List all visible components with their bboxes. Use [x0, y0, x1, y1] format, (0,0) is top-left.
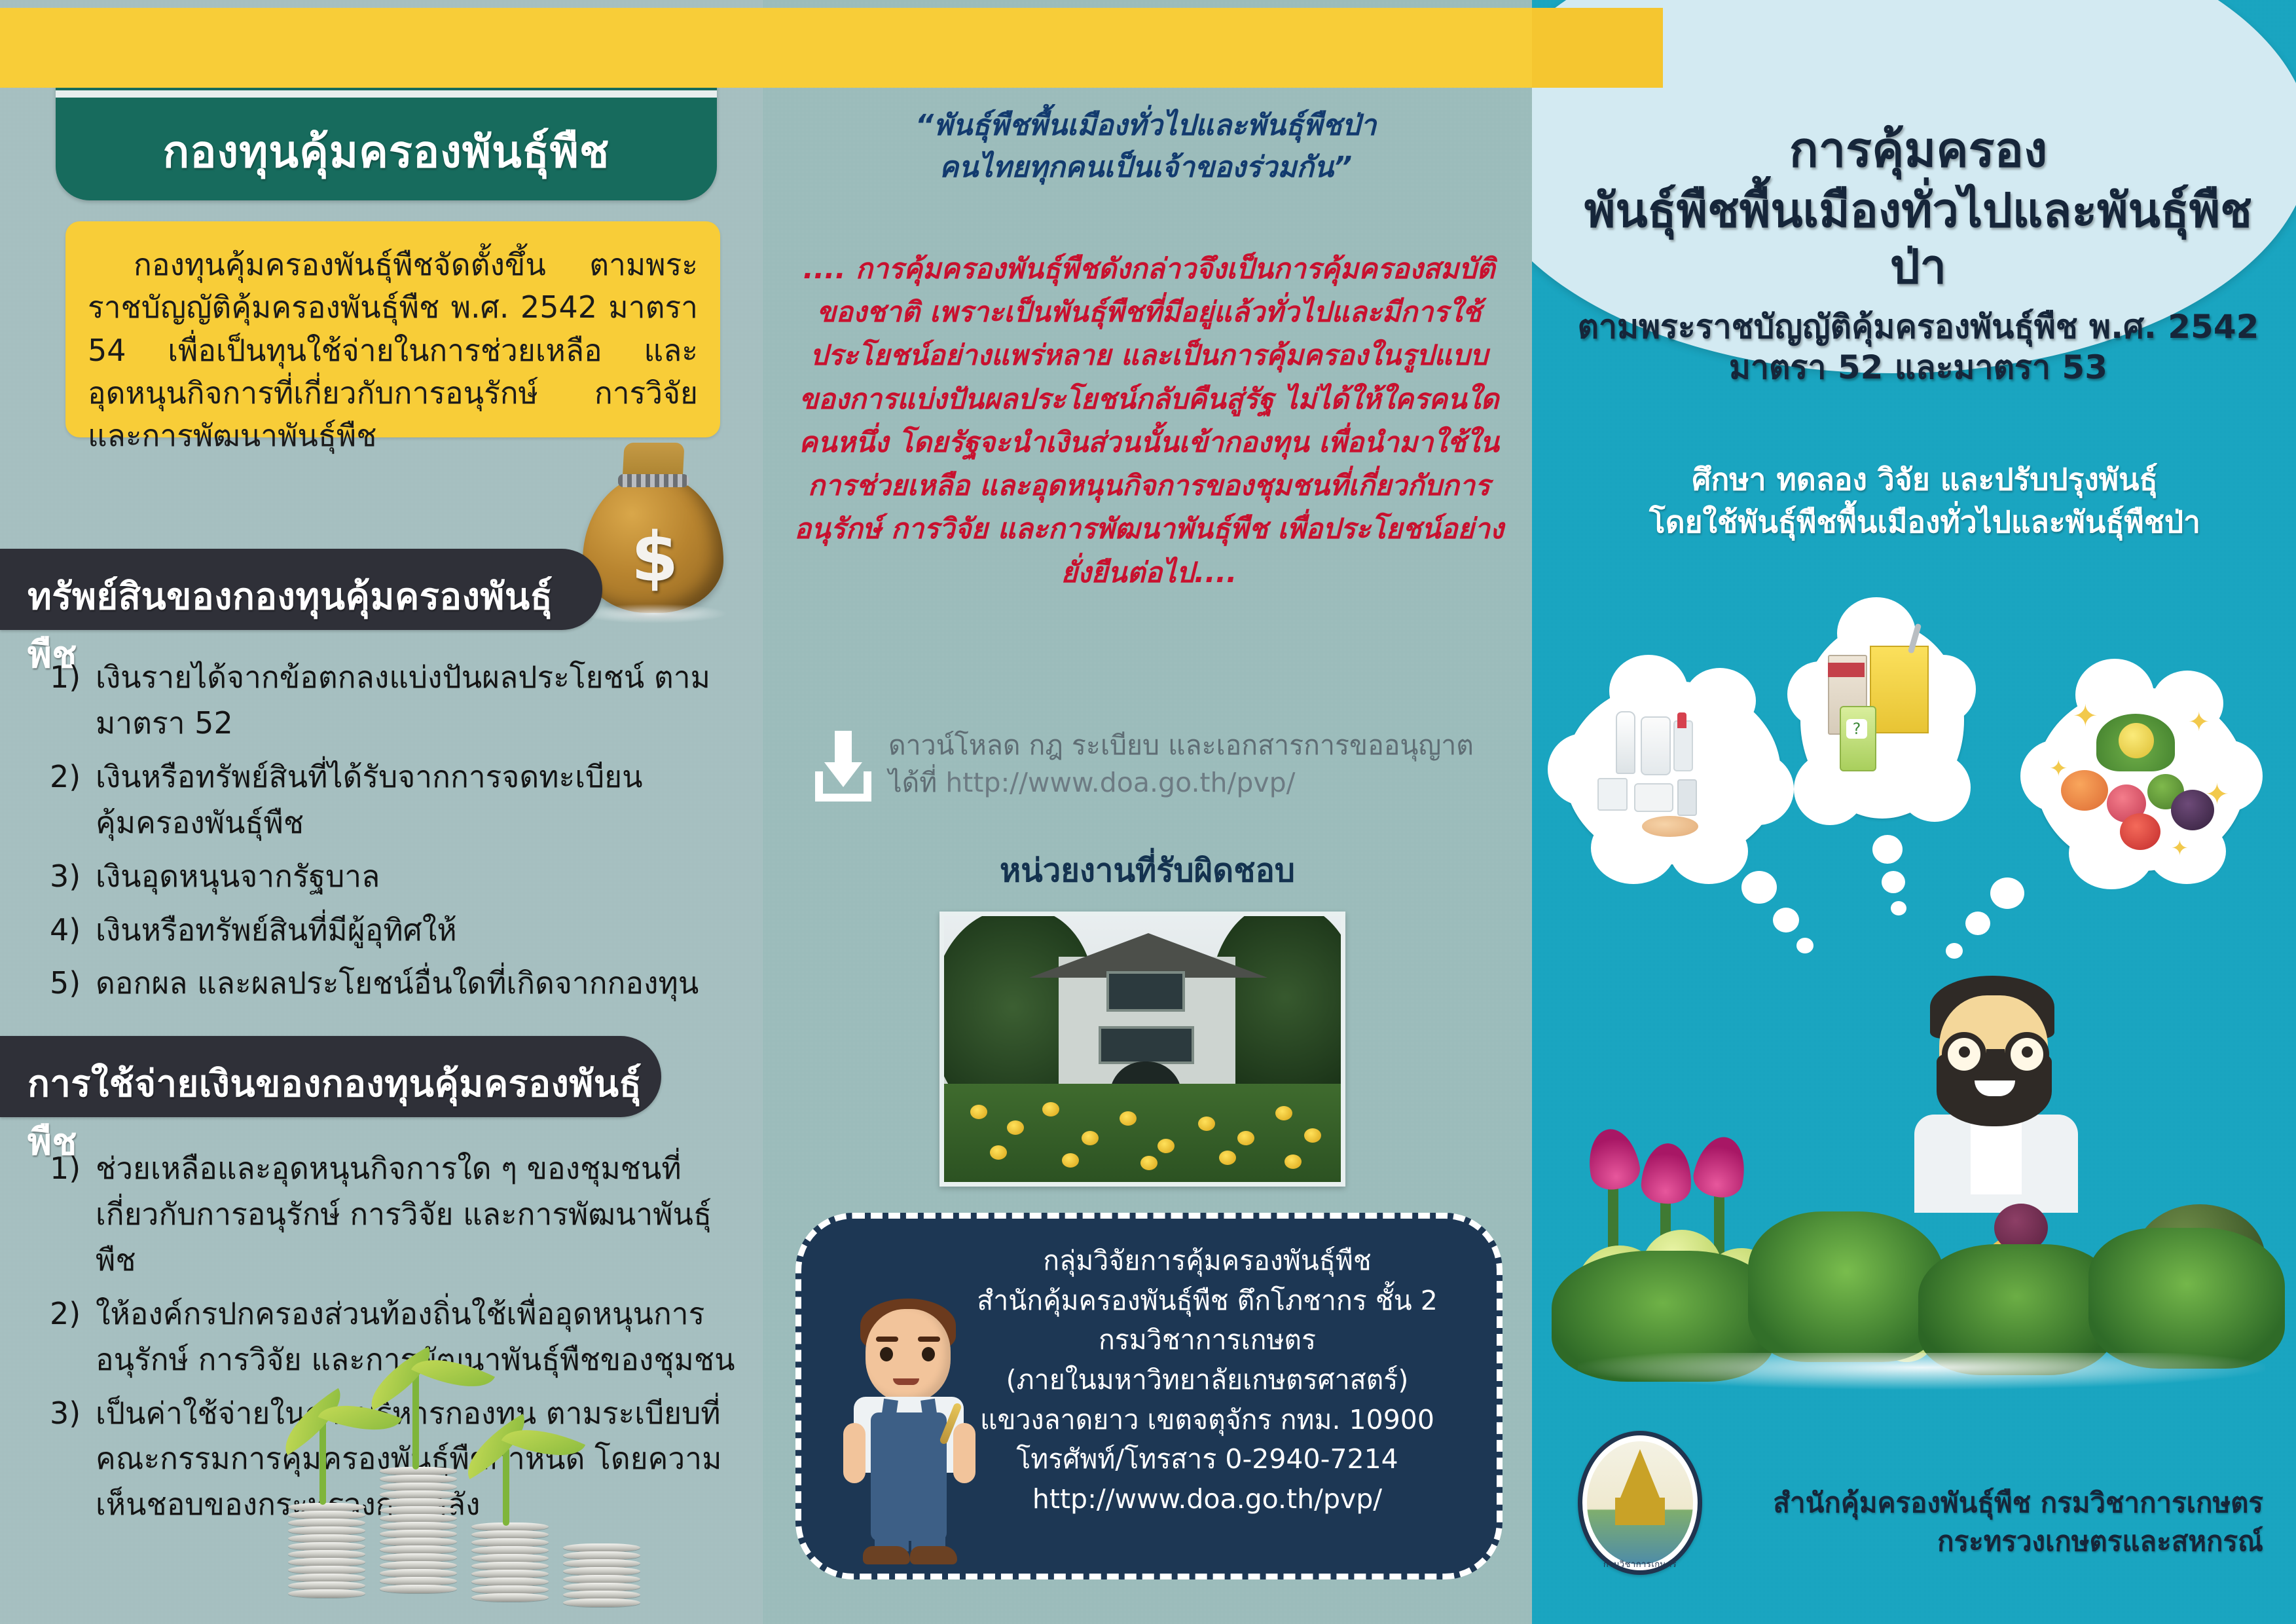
list-item: 1)เงินรายได้จากข้อตกลงแบ่งปันผลประโยชน์ … — [39, 655, 733, 747]
contact-phone: โทรศัพท์/โทรสาร 0-2940-7214 — [919, 1439, 1495, 1479]
seal-caption: กรมวิชาการเกษตร — [1578, 1557, 1702, 1571]
quote-line-1: “พันธุ์พืชพื้นเมืองทั่วไปและพันธุ์พืชป่า — [782, 105, 1509, 147]
cover-subtitle-line-1: ศึกษา ทดลอง วิจัย และปรับปรุงพันธุ์ — [1578, 458, 2272, 501]
contact-line-2: สำนักคุ้มครองพันธุ์พืช ตึกโภชากร ชั้น 2 — [919, 1281, 1495, 1321]
top-yellow-band-right — [1532, 8, 1663, 88]
list-item: 4)เงินหรือทรัพย์สินที่มีผู้อุทิศให้ — [39, 908, 733, 953]
list-item: 5)ดอกผล และผลประโยชน์อื่นใดที่เกิดจากกอง… — [39, 961, 733, 1006]
coins-and-sprouts-illustration — [196, 1342, 668, 1624]
cover-title-line-3: ตามพระราชบัญญัติคุ้มครองพันธุ์พืช พ.ศ. 2… — [1571, 307, 2265, 346]
cover-title-line-1: การคุ้มครอง — [1571, 121, 2265, 179]
body-paragraph: .... การคุ้มครองพันธุ์พืชดังกล่าวจึงเป็น… — [789, 248, 1509, 595]
cover-title-line-4: มาตรา 52 และมาตรา 53 — [1571, 348, 2265, 387]
cover-title-line-2: พันธุ์พืชพื้นเมืองทั่วไปและพันธุ์พืชป่า — [1571, 182, 2265, 295]
contact-box: กลุ่มวิจัยการคุ้มครองพันธุ์พืช สำนักคุ้ม… — [795, 1213, 1503, 1579]
cover-title: การคุ้มครอง พันธุ์พืชพื้นเมืองทั่วไปและพ… — [1571, 121, 2265, 387]
top-yellow-band — [0, 8, 1532, 88]
spending-heading-bar: การใช้จ่ายเงินของกองทุนคุ้มครองพันธุ์พืช — [0, 1036, 661, 1117]
contact-line-4: (ภายในมหาวิทยาลัยเกษตรศาสตร์) — [919, 1360, 1495, 1400]
contact-line-3: กรมวิชาการเกษตร — [919, 1320, 1495, 1360]
fund-title: กองทุนคุ้มครองพันธุ์พืช — [56, 117, 717, 187]
middle-panel: “พันธุ์พืชพื้นเมืองทั่วไปและพันธุ์พืชป่า… — [763, 0, 1532, 1624]
department-seal: กรมวิชาการเกษตร — [1578, 1431, 1702, 1575]
header-rule — [56, 90, 717, 98]
assets-heading-bar: ทรัพย์สินของกองทุนคุ้มครองพันธุ์พืช — [0, 549, 602, 630]
contact-website[interactable]: http://www.doa.go.th/pvp/ — [919, 1479, 1495, 1519]
list-item: 1)ช่วยเหลือและอุดหนุนกิจการใด ๆ ของชุมชน… — [39, 1146, 740, 1283]
download-line-1: ดาวน์โหลด กฎ ระเบียบ และเอกสารการขออนุญา… — [888, 727, 1474, 764]
right-panel-cover: การคุ้มครอง พันธุ์พืชพื้นเมืองทั่วไปและพ… — [1532, 0, 2296, 1624]
list-item: 2)เงินหรือทรัพย์สินที่ได้รับจากการจดทะเบ… — [39, 754, 733, 846]
download-url[interactable]: http://www.doa.go.th/pvp/ — [945, 767, 1295, 798]
headline-quote: “พันธุ์พืชพื้นเมืองทั่วไปและพันธุ์พืชป่า… — [782, 105, 1509, 189]
contact-details: กลุ่มวิจัยการคุ้มครองพันธุ์พืช สำนักคุ้ม… — [919, 1241, 1495, 1519]
footer-line-2: กระทรวงเกษตรและสหกรณ์ — [1733, 1522, 2263, 1561]
list-item: 3)เงินอุดหนุนจากรัฐบาล — [39, 854, 733, 900]
responsible-unit-heading: หน่วยงานที่รับผิดชอบ — [763, 845, 1532, 896]
download-line-2: ได้ที่ http://www.doa.go.th/pvp/ — [888, 764, 1474, 802]
intro-card: กองทุนคุ้มครองพันธุ์พืชจัดตั้งขึ้น ตามพร… — [65, 221, 720, 437]
footer-line-1: สำนักคุ้มครองพันธุ์พืช กรมวิชาการเกษตร — [1733, 1484, 2263, 1522]
contact-line-1: กลุ่มวิจัยการคุ้มครองพันธุ์พืช — [919, 1241, 1495, 1281]
cover-subtitle: ศึกษา ทดลอง วิจัย และปรับปรุงพันธุ์ โดยใ… — [1578, 458, 2272, 544]
download-text: ดาวน์โหลด กฎ ระเบียบ และเอกสารการขออนุญา… — [888, 727, 1474, 801]
left-panel: กองทุนคุ้มครองพันธุ์พืช กองทุนคุ้มครองพั… — [0, 0, 763, 1624]
assets-list: 1)เงินรายได้จากข้อตกลงแบ่งปันผลประโยชน์ … — [39, 655, 733, 1014]
download-icon — [815, 731, 875, 803]
cover-subtitle-line-2: โดยใช้พันธุ์พืชพื้นเมืองทั่วไปและพันธุ์พ… — [1578, 501, 2272, 544]
contact-line-5: แขวงลาดยาว เขตจตุจักร กทม. 10900 — [919, 1400, 1495, 1440]
download-row[interactable]: ดาวน์โหลด กฎ ระเบียบ และเอกสารการขออนุญา… — [815, 727, 1509, 803]
quote-line-2: คนไทยทุกคนเป็นเจ้าของร่วมกัน” — [782, 147, 1509, 189]
produce-spread-illustration — [1552, 1120, 2291, 1460]
office-building-photo — [939, 912, 1345, 1187]
brochure-sheet: กองทุนคุ้มครองพันธุ์พืช กองทุนคุ้มครองพั… — [0, 0, 2296, 1624]
footer-organisation: สำนักคุ้มครองพันธุ์พืช กรมวิชาการเกษตร ก… — [1733, 1484, 2263, 1561]
